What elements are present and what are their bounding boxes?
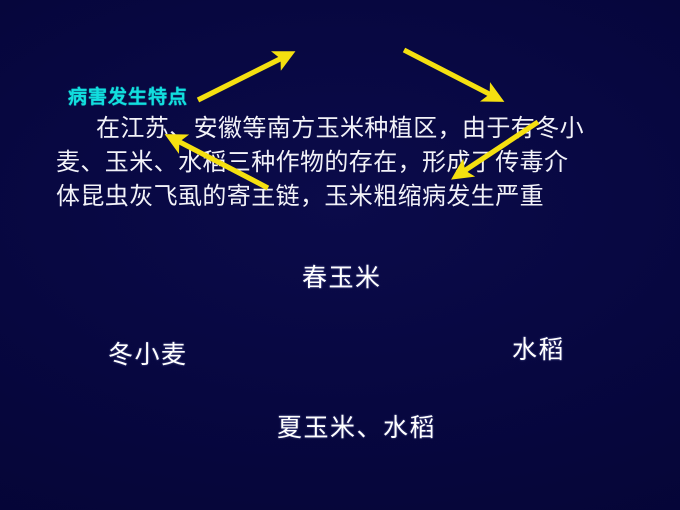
slide-canvas: 病害发生特点 在江苏、安徽等南方玉米种植区，由于有冬小 麦、玉米、水稻三种作物的… xyxy=(0,0,680,510)
node-label-summer-maize: 夏玉米、水稻 xyxy=(277,408,436,444)
arrow-summer-maize-to-winter-wheat xyxy=(172,138,268,188)
arrow-winter-wheat-to-spring-maize xyxy=(198,55,288,100)
node-label-spring-maize: 春玉米 xyxy=(302,258,382,294)
cycle-arrow-layer xyxy=(0,0,680,250)
arrow-spring-maize-to-rice xyxy=(404,50,497,98)
node-label-winter-wheat: 冬小麦 xyxy=(108,335,188,371)
node-label-rice: 水稻 xyxy=(512,330,565,366)
arrow-rice-to-summer-maize xyxy=(458,122,538,175)
